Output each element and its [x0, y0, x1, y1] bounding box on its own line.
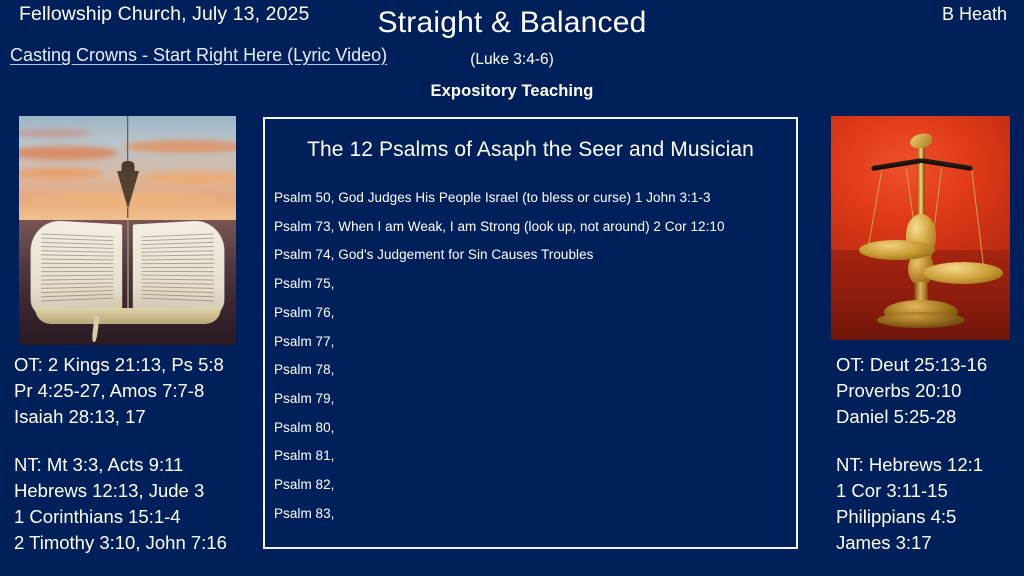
- list-item: Psalm 50, God Judges His People Israel (…: [274, 184, 790, 213]
- bible-right-page: [133, 219, 225, 317]
- text-lines: [41, 233, 114, 304]
- spacer: [14, 430, 227, 452]
- plumb-line-cord: [127, 116, 129, 164]
- list-item: Psalm 80,: [274, 414, 790, 443]
- list-item: Psalm 83,: [274, 500, 790, 529]
- left-scripture-references: OT: 2 Kings 21:13, Ps 5:8 Pr 4:25-27, Am…: [14, 352, 227, 556]
- list-item: Psalm 74, God's Judgement for Sin Causes…: [274, 241, 790, 270]
- bible-page-edges: [35, 308, 221, 324]
- list-item: Psalm 78,: [274, 356, 790, 385]
- list-item: Psalm 79,: [274, 385, 790, 414]
- author-label: B Heath: [942, 4, 1007, 25]
- slide-title: Straight & Balanced: [0, 6, 1024, 40]
- cloud-band: [19, 129, 91, 138]
- nt-reference-line: Hebrews 12:13, Jude 3: [14, 478, 227, 504]
- ot-reference-line: Isaiah 28:13, 17: [14, 404, 227, 430]
- psalms-box-title: The 12 Psalms of Asaph the Seer and Musi…: [265, 138, 796, 162]
- scripture-reference-label: (Luke 3:4-6): [0, 51, 1024, 69]
- nt-reference-line: NT: Mt 3:3, Acts 9:11: [14, 452, 227, 478]
- plumb-bob-tip: [127, 208, 128, 218]
- spacer: [836, 430, 987, 452]
- ot-reference-line: Pr 4:25-27, Amos 7:7-8: [14, 378, 227, 404]
- list-item: Psalm 75,: [274, 270, 790, 299]
- list-item: Psalm 73, When I am Weak, I am Strong (l…: [274, 213, 790, 242]
- ot-reference-line: Daniel 5:25-28: [836, 404, 987, 430]
- presentation-slide: Fellowship Church, July 13, 2025 Casting…: [0, 0, 1024, 576]
- scale-pan-left: [859, 240, 935, 260]
- nt-reference-line: 2 Timothy 3:10, John 7:16: [14, 530, 227, 556]
- nt-reference-line: 1 Corinthians 15:1-4: [14, 504, 227, 530]
- list-item: Psalm 81,: [274, 442, 790, 471]
- nt-reference-line: Philippians 4:5: [836, 504, 987, 530]
- bible-spine: [127, 220, 129, 316]
- psalms-content-box: The 12 Psalms of Asaph the Seer and Musi…: [263, 117, 798, 549]
- scale-base-lower: [877, 312, 965, 328]
- list-item: Psalm 82,: [274, 471, 790, 500]
- text-lines: [141, 233, 214, 304]
- ot-reference-line: OT: 2 Kings 21:13, Ps 5:8: [14, 352, 227, 378]
- ot-reference-line: OT: Deut 25:13-16: [836, 352, 987, 378]
- bible-plumb-bob-image: [19, 116, 236, 345]
- bible-left-page: [31, 219, 123, 317]
- nt-reference-line: NT: Hebrews 12:1: [836, 452, 987, 478]
- right-scripture-references: OT: Deut 25:13-16 Proverbs 20:10 Daniel …: [836, 352, 987, 556]
- balance-scales-image: [831, 116, 1010, 340]
- ot-reference-line: Proverbs 20:10: [836, 378, 987, 404]
- plumb-bob-icon: [117, 171, 139, 209]
- nt-reference-line: James 3:17: [836, 530, 987, 556]
- scale-pan-right: [923, 262, 1003, 284]
- list-item: Psalm 77,: [274, 328, 790, 357]
- slide-subtitle: Expository Teaching: [0, 82, 1024, 101]
- list-item: Psalm 76,: [274, 299, 790, 328]
- psalms-list: Psalm 50, God Judges His People Israel (…: [274, 184, 790, 528]
- nt-reference-line: 1 Cor 3:11-15: [836, 478, 987, 504]
